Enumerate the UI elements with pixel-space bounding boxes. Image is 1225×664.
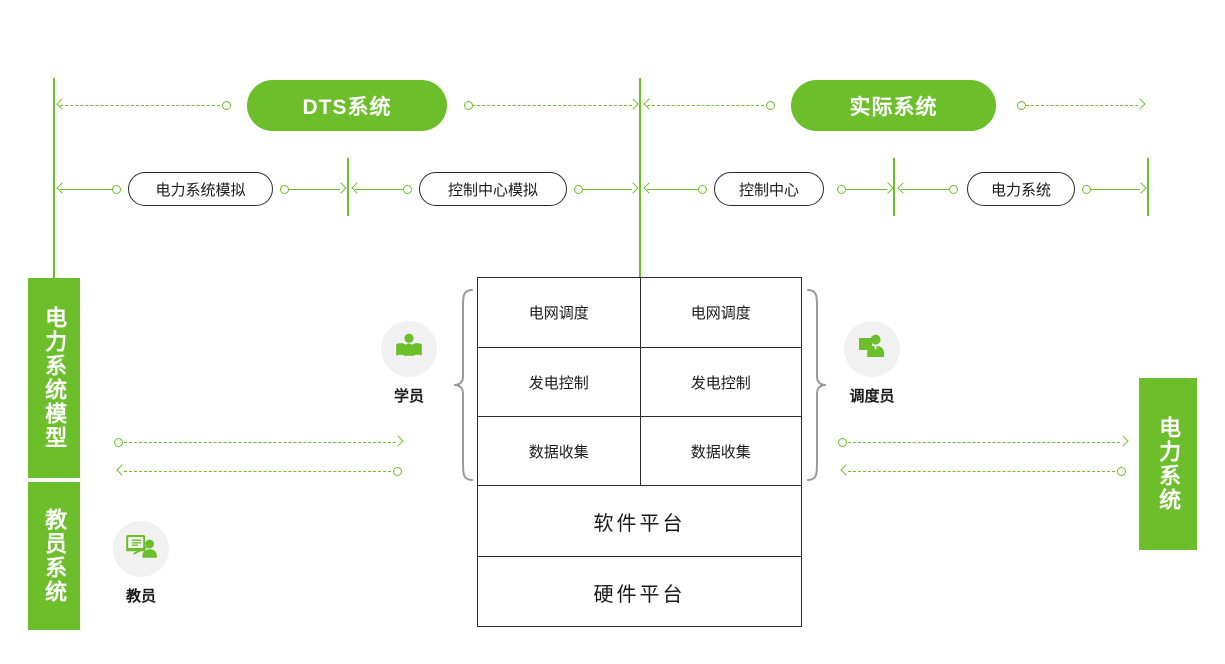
endpoint-dts-span-left <box>222 101 231 110</box>
pill-control-center-simulation[interactable]: 控制中心模拟 <box>419 172 567 206</box>
brace-right <box>806 288 828 482</box>
table-cell: 电网调度 <box>640 278 802 347</box>
connector-seg2-right <box>582 189 632 190</box>
pill-dts-system[interactable]: DTS系统 <box>247 80 447 131</box>
table-cell-software-platform: 软件平台 <box>478 486 801 556</box>
endpoint-seg2-right <box>574 185 583 194</box>
arrowhead-seg1-left <box>55 184 66 195</box>
arrowhead-left-outbound <box>394 437 405 448</box>
pill-power-system[interactable]: 电力系统 <box>967 172 1075 206</box>
connector-left-inbound <box>124 471 396 472</box>
brace-left <box>452 288 474 482</box>
connector-seg1-right <box>288 189 340 190</box>
connector-seg2-left <box>355 189 405 190</box>
endpoint-right-inbound <box>1117 467 1126 476</box>
block-power-system-right-label: 电力系统 <box>1154 416 1182 512</box>
table-row: 发电控制 发电控制 <box>478 347 801 416</box>
connector-seg1-left <box>60 189 113 190</box>
endpoint-seg4-right <box>1082 185 1091 194</box>
pill-power-system-simulation[interactable]: 电力系统模拟 <box>128 172 273 206</box>
role-dispatcher-label: 调度员 <box>832 385 912 406</box>
table-cell: 电网调度 <box>478 278 640 347</box>
connector-seg4-right <box>1090 189 1140 190</box>
table-row: 电网调度 电网调度 <box>478 278 801 347</box>
table-cell: 数据收集 <box>640 417 802 485</box>
connector-dts-span-left <box>60 105 225 106</box>
arrowhead-left-inbound <box>115 466 126 477</box>
endpoint-seg3-left <box>698 185 707 194</box>
endpoint-right-outbound <box>838 438 847 447</box>
arrowhead-real-span-right <box>1136 100 1147 111</box>
connector-seg3-right <box>845 189 887 190</box>
connector-real-span-right <box>1026 105 1138 106</box>
instructor-blackboard-icon <box>125 533 157 566</box>
endpoint-left-inbound <box>393 467 402 476</box>
platform-stack-table: 电网调度 电网调度 发电控制 发电控制 数据收集 数据收集 软件平台 硬件平台 <box>477 277 802 627</box>
endpoint-seg2-left <box>403 185 412 194</box>
endpoint-seg1-left <box>112 185 121 194</box>
table-cell: 发电控制 <box>640 348 802 416</box>
table-cell: 数据收集 <box>478 417 640 485</box>
arrowhead-seg2-right <box>629 184 640 195</box>
table-row: 软件平台 <box>478 485 801 556</box>
arrowhead-seg2-left <box>350 184 361 195</box>
table-row: 硬件平台 <box>478 556 801 627</box>
student-reading-icon <box>394 333 424 366</box>
role-student-label: 学员 <box>369 385 449 406</box>
arrowhead-seg3-left <box>642 184 653 195</box>
endpoint-real-span-left <box>766 101 775 110</box>
arrowhead-right-outbound <box>1119 437 1130 448</box>
role-dispatcher: 调度员 <box>832 321 912 406</box>
arrowhead-seg1-right <box>337 184 348 195</box>
endpoint-real-span-right <box>1017 101 1026 110</box>
table-cell-hardware-platform: 硬件平台 <box>478 557 801 627</box>
connector-left-outbound <box>124 442 396 443</box>
block-instructor-system: 教员系统 <box>28 482 80 630</box>
arrowhead-seg4-left <box>896 184 907 195</box>
dispatcher-operator-icon <box>857 333 887 366</box>
pill-real-system-label: 实际系统 <box>850 91 938 121</box>
pill-dts-system-label: DTS系统 <box>303 91 392 121</box>
pill-power-system-label: 电力系统 <box>991 179 1051 200</box>
diagram-canvas: DTS系统 实际系统 电力系统模拟 控制中心模拟 控制中心 电力系统 <box>0 0 1225 664</box>
endpoint-left-outbound <box>114 438 123 447</box>
role-instructor: 教员 <box>101 521 181 606</box>
connector-seg3-left <box>647 189 699 190</box>
arrowhead-real-span-left <box>642 100 653 111</box>
block-power-system-right: 电力系统 <box>1139 378 1197 550</box>
connector-real-span-left <box>647 105 769 106</box>
arrowhead-seg3-right <box>884 184 895 195</box>
role-student: 学员 <box>369 321 449 406</box>
endpoint-seg1-right <box>280 185 289 194</box>
connector-dts-span-right <box>472 105 632 106</box>
instructor-badge-disc <box>113 521 169 577</box>
table-cell: 发电控制 <box>478 348 640 416</box>
connector-seg4-left <box>901 189 951 190</box>
table-row: 数据收集 数据收集 <box>478 416 801 485</box>
block-instructor-system-label: 教员系统 <box>40 508 68 604</box>
arrowhead-right-inbound <box>839 466 850 477</box>
endpoint-dts-span-right <box>464 101 473 110</box>
dispatcher-badge-disc <box>844 321 900 377</box>
pill-power-system-simulation-label: 电力系统模拟 <box>155 179 245 200</box>
connector-right-inbound <box>848 471 1120 472</box>
endpoint-seg4-left <box>949 185 958 194</box>
pill-real-system[interactable]: 实际系统 <box>791 80 996 131</box>
pill-control-center-simulation-label: 控制中心模拟 <box>448 179 538 200</box>
role-instructor-label: 教员 <box>101 585 181 606</box>
connector-right-outbound <box>848 442 1120 443</box>
endpoint-seg3-right <box>837 185 846 194</box>
arrowhead-dts-span-right <box>629 100 640 111</box>
pill-control-center[interactable]: 控制中心 <box>714 172 824 206</box>
arrowhead-seg4-right <box>1137 184 1148 195</box>
pill-control-center-label: 控制中心 <box>739 179 799 200</box>
block-power-system-model-label: 电力系统模型 <box>40 306 68 450</box>
student-badge-disc <box>381 321 437 377</box>
block-power-system-model: 电力系统模型 <box>28 278 80 478</box>
arrowhead-dts-span-left <box>55 100 66 111</box>
